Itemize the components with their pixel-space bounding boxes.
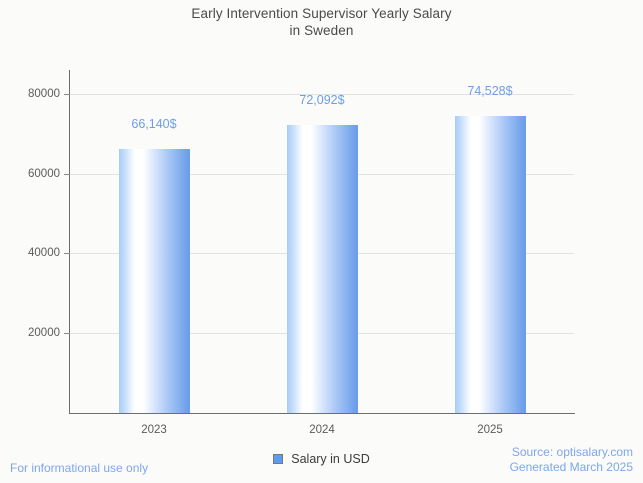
chart-container: Early Intervention Supervisor Yearly Sal…: [0, 0, 643, 483]
chart-title: Early Intervention Supervisor Yearly Sal…: [0, 5, 643, 39]
bar-2024[interactable]: [287, 125, 358, 413]
legend-label: Salary in USD: [291, 452, 370, 466]
legend-swatch-icon: [273, 454, 283, 464]
bar-group: 72,092$ 2024: [287, 70, 358, 413]
x-tick-label: 2023: [141, 424, 167, 436]
disclaimer-text: For informational use only: [10, 461, 148, 475]
x-tick-label: 2024: [309, 424, 335, 436]
bar-group: 66,140$ 2023: [119, 70, 190, 413]
plot-area: 80000 60000 40000 20000 66,140$ 2023: [70, 70, 574, 413]
generated-text: Generated March 2025: [510, 460, 633, 475]
x-tick-label: 2025: [477, 424, 503, 436]
y-tick-label: 60000: [28, 168, 60, 180]
bar-2025[interactable]: [455, 116, 526, 413]
bar-group: 74,528$ 2025: [455, 70, 526, 413]
bar-value-label: 74,528$: [467, 84, 512, 98]
source-text: Source: optisalary.com: [510, 445, 633, 460]
chart-title-line-1: Early Intervention Supervisor Yearly Sal…: [191, 6, 451, 21]
y-tick-label: 20000: [28, 327, 60, 339]
y-tick-label: 80000: [28, 88, 60, 100]
bars-layer: 66,140$ 2023 72,092$ 2024 74,528$ 2025: [70, 70, 574, 413]
x-axis-line: [69, 413, 575, 414]
y-tick-label: 40000: [28, 247, 60, 259]
chart-title-line-2: in Sweden: [0, 22, 643, 39]
bar-value-label: 66,140$: [131, 117, 176, 131]
bar-value-label: 72,092$: [299, 93, 344, 107]
source-block: Source: optisalary.com Generated March 2…: [510, 445, 633, 475]
bar-2023[interactable]: [119, 149, 190, 413]
